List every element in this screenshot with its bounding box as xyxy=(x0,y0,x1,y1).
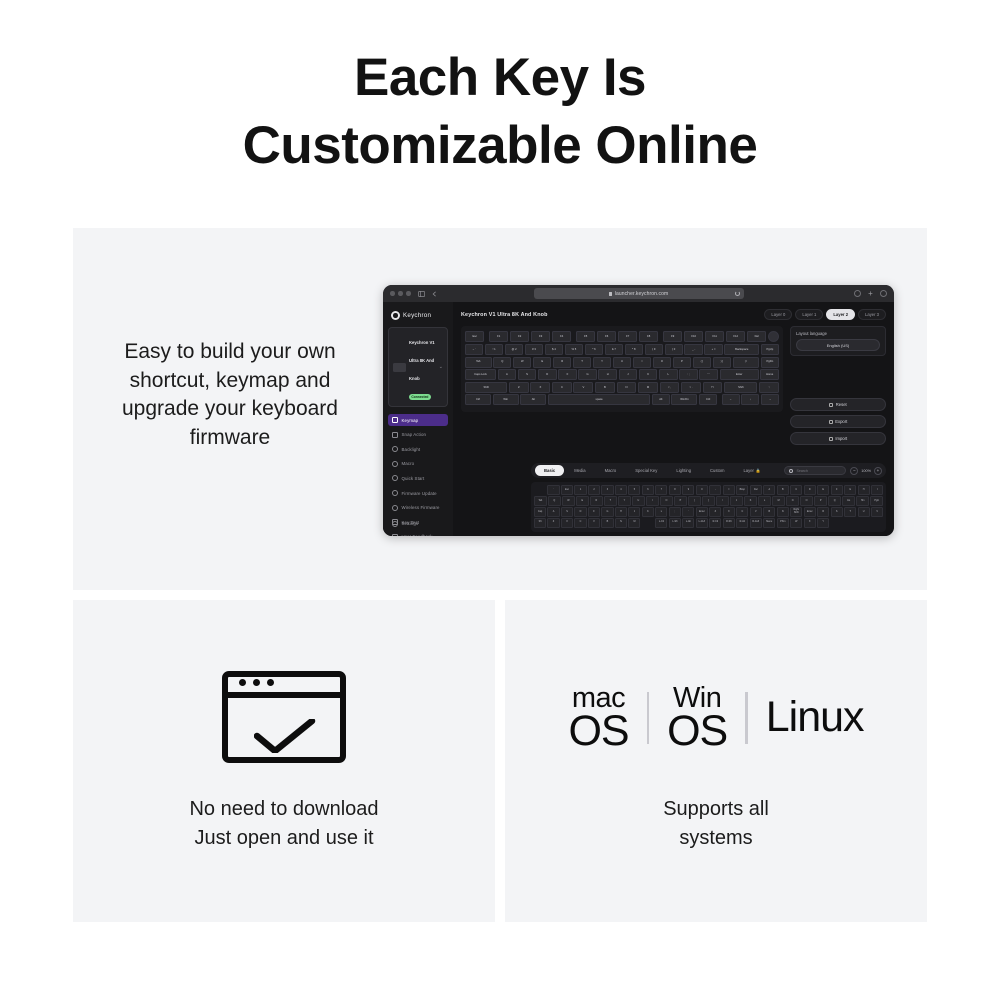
headline-line-1: Each Key Is xyxy=(354,48,646,107)
palette-key[interactable]: E xyxy=(817,485,829,495)
sidebar-item-label: Macro xyxy=(402,461,415,466)
palette-key[interactable]: N xyxy=(786,496,799,506)
key[interactable]: T xyxy=(573,357,591,368)
keychron-mark-icon xyxy=(391,311,400,320)
key[interactable]: Esc xyxy=(465,331,484,342)
palette-key[interactable]: ' xyxy=(682,507,694,517)
key[interactable]: N xyxy=(617,382,637,393)
key[interactable]: ? / xyxy=(703,382,723,393)
lock-icon xyxy=(609,292,612,296)
layer-tab-2[interactable]: Layer 2 xyxy=(826,309,855,320)
layout-language-select[interactable]: English (US) xyxy=(796,339,880,351)
brand-name: Keychron xyxy=(403,312,431,319)
palette-key[interactable]: G xyxy=(601,507,613,517)
divider xyxy=(745,692,748,744)
user-feedback-icon xyxy=(392,534,398,536)
key[interactable]: ( 9 xyxy=(645,344,663,355)
key-left-win[interactable]: Win xyxy=(493,394,519,405)
key[interactable]: W xyxy=(513,357,531,368)
palette-key[interactable]: PgU xyxy=(870,496,883,506)
search-icon xyxy=(789,469,793,473)
palette-key[interactable]: ` xyxy=(547,485,559,495)
palette-key[interactable]: Cap xyxy=(534,507,546,517)
key[interactable]: { [ xyxy=(693,357,711,368)
key[interactable]: L xyxy=(659,369,678,380)
palette-key[interactable]: D xyxy=(574,507,586,517)
tab-basic[interactable]: Basic xyxy=(535,465,564,476)
palette-key[interactable]: R-Sft xyxy=(723,518,735,528)
palette-key[interactable]: H xyxy=(858,485,870,495)
import-icon xyxy=(829,437,833,441)
palette-key[interactable] xyxy=(642,518,654,528)
palette-key[interactable]: C xyxy=(790,485,802,495)
browser-title-bar: launcher.keychron.com + xyxy=(383,285,894,302)
palette-key[interactable]: B xyxy=(601,518,613,528)
palette-key[interactable]: B xyxy=(763,507,775,517)
palette-key[interactable]: ; xyxy=(669,507,681,517)
key[interactable]: ~ ` xyxy=(465,344,483,355)
key[interactable]: H xyxy=(598,369,617,380)
palette-key[interactable]: W xyxy=(562,496,575,506)
key[interactable]: F2 xyxy=(510,331,529,342)
page-root: Each Key Is Customizable Online Easy to … xyxy=(0,0,1000,1000)
key-arrow-right[interactable]: → xyxy=(761,394,779,405)
key[interactable]: $ 4 xyxy=(545,344,563,355)
tab-lighting[interactable]: Lighting xyxy=(667,465,700,476)
palette-key[interactable]: T xyxy=(844,507,856,517)
palette-key[interactable]: M xyxy=(628,518,640,528)
palette-key[interactable]: 3 xyxy=(601,485,613,495)
browser-window-mockup: launcher.keychron.com + Keychron Ke xyxy=(383,285,894,536)
key[interactable]: > . xyxy=(681,382,701,393)
key[interactable]: F xyxy=(558,369,577,380)
sidebar-item-settings[interactable]: Settings xyxy=(388,518,448,530)
key-caps-lock[interactable]: Caps Lock xyxy=(465,369,496,380)
key-backslash[interactable]: | \ xyxy=(733,357,760,368)
tab-media[interactable]: Media xyxy=(565,465,594,476)
key-arrow-left[interactable]: ← xyxy=(722,394,740,405)
key-arrow-up[interactable]: ↑ xyxy=(759,382,779,393)
palette-key[interactable]: P xyxy=(814,496,827,506)
palette-key[interactable]: T xyxy=(604,496,617,506)
layer-tab-3[interactable]: Layer 3 xyxy=(858,309,886,320)
key[interactable]: B xyxy=(595,382,615,393)
palette-key[interactable]: L-GUI xyxy=(696,518,708,528)
palette-key[interactable]: F xyxy=(588,507,600,517)
palette-key[interactable]: \ xyxy=(716,496,729,506)
key-enter[interactable]: Enter xyxy=(720,369,759,380)
search-placeholder: Search xyxy=(796,469,807,473)
palette-key[interactable]: U xyxy=(632,496,645,506)
panel-actions: Reset Export Import xyxy=(790,398,886,445)
sidebar-item-label: Settings xyxy=(402,521,419,526)
palette-key[interactable]: 8 xyxy=(669,485,681,495)
key-space[interactable]: space xyxy=(548,394,650,405)
key[interactable]: % 5 xyxy=(565,344,583,355)
palette-key[interactable]: B xyxy=(777,485,789,495)
os-logos: mac OS Win OS Linux xyxy=(505,672,927,764)
caption-line-2: Just open and use it xyxy=(73,824,495,853)
dot-icon xyxy=(253,679,260,686)
app-sidebar: Keychron Keychron V1 Ultra 8K And Knob C… xyxy=(383,302,453,536)
key[interactable]: U xyxy=(613,357,631,368)
zoom-out-icon[interactable]: − xyxy=(850,467,858,475)
key[interactable]: F3 xyxy=(531,331,550,342)
palette-key[interactable]: Hm xyxy=(856,496,869,506)
palette-key[interactable]: F xyxy=(831,485,843,495)
palette-key[interactable]: Y xyxy=(618,496,631,506)
palette-key[interactable]: ] xyxy=(702,496,715,506)
palette-key[interactable]: R-GUI xyxy=(750,518,762,528)
palette-key[interactable]: Esc xyxy=(561,485,573,495)
key[interactable]: : ; xyxy=(679,369,698,380)
palette-key[interactable]: Sft xyxy=(534,518,546,528)
key[interactable]: F6 xyxy=(597,331,616,342)
palette-key[interactable]: K xyxy=(744,496,757,506)
headline-line-2: Customizable Online xyxy=(0,112,1000,180)
gear-icon xyxy=(392,521,398,527)
sidebar-item-snap-action[interactable]: Snap Action xyxy=(388,429,448,441)
app-main: Keychron V1 Ultra 8K And Knob Layer 0 La… xyxy=(453,302,894,536)
layout-language-box: Layout language English (US) xyxy=(790,326,886,356)
key[interactable]: E xyxy=(533,357,551,368)
palette-key[interactable]: Y xyxy=(817,518,829,528)
key[interactable]: P xyxy=(673,357,691,368)
lock-icon: 🔒 xyxy=(755,468,760,473)
key-pgdn[interactable]: PgDn xyxy=(761,357,779,368)
sidebar-item-label: Wireless Firmware xyxy=(402,505,440,510)
palette-key[interactable]: E xyxy=(576,496,589,506)
sidebar-toggle-icon[interactable] xyxy=(418,291,425,297)
key-left-shift[interactable]: Shift xyxy=(465,382,507,393)
export-button[interactable]: Export xyxy=(790,415,886,428)
key[interactable]: & 7 xyxy=(605,344,623,355)
reset-button[interactable]: Reset xyxy=(790,398,886,411)
import-button[interactable]: Import xyxy=(790,432,886,445)
palette-key[interactable]: A xyxy=(763,485,775,495)
tabs-overview-icon[interactable] xyxy=(880,290,887,297)
palette-key[interactable]: X xyxy=(723,507,735,517)
key[interactable]: F11 xyxy=(705,331,724,342)
sidebar-item-quick-start[interactable]: Quick Start xyxy=(388,472,448,484)
tab-macro[interactable]: Macro xyxy=(596,465,626,476)
palette-key[interactable] xyxy=(844,518,856,528)
launcher-description: Easy to build your own shortcut, keymap … xyxy=(95,338,365,452)
palette-key[interactable]: Q xyxy=(828,496,841,506)
palette-key[interactable]: G xyxy=(844,485,856,495)
key-fn[interactable]: Win/Fn xyxy=(671,394,697,405)
palette-row: ` Esc 1 2 3 4 5 6 7 8 9 0 - xyxy=(534,485,883,495)
key[interactable]: Del xyxy=(747,331,766,342)
palette-key[interactable]: L xyxy=(655,507,667,517)
key[interactable]: V xyxy=(573,382,593,393)
backlight-icon xyxy=(392,446,398,452)
palette-key[interactable]: R-Alt xyxy=(736,518,748,528)
palette-key[interactable]: [ xyxy=(688,496,701,506)
sidebar-item-user-feedback[interactable]: User Feedback xyxy=(388,531,448,537)
key[interactable]: S xyxy=(518,369,537,380)
keyboard-layout: Esc F1 F2 F3 F4 F5 F6 F7 F8 F9 F10 F11 xyxy=(461,326,783,412)
toolbar-tools: Search − 100% + xyxy=(784,466,882,475)
palette-key[interactable]: J xyxy=(730,496,743,506)
key[interactable]: < , xyxy=(660,382,680,393)
reset-icon xyxy=(829,403,833,407)
key[interactable]: _ - xyxy=(684,344,702,355)
winos-suffix: OS xyxy=(667,712,727,752)
wireless-firmware-icon xyxy=(392,505,398,511)
quick-start-icon xyxy=(392,475,398,481)
key-arrow-down[interactable]: ↓ xyxy=(741,394,759,405)
key-right-ctrl[interactable]: Ctrl xyxy=(699,394,717,405)
zoom-in-icon[interactable]: + xyxy=(874,467,882,475)
palette-key[interactable]: W xyxy=(790,518,802,528)
palette-key[interactable]: Z xyxy=(709,507,721,517)
palette-key[interactable]: 7 xyxy=(655,485,667,495)
keyboard-row: Shift Z X C V B N M < , > . ? / Shift xyxy=(465,382,779,393)
key[interactable]: D xyxy=(538,369,557,380)
key-left-alt[interactable]: Alt xyxy=(520,394,546,405)
palette-key[interactable]: 1 xyxy=(574,485,586,495)
palette-key[interactable]: X xyxy=(561,518,573,528)
key-home[interactable]: Home xyxy=(760,369,779,380)
device-selector[interactable]: Keychron V1 Ultra 8K And Knob Connected … xyxy=(388,327,448,407)
palette-key[interactable]: O xyxy=(800,496,813,506)
key[interactable]: Y xyxy=(593,357,611,368)
checkmark-icon xyxy=(254,719,316,753)
key-pgup[interactable]: PgUp xyxy=(761,344,779,355)
reset-label: Reset xyxy=(836,402,847,407)
palette-key[interactable]: K xyxy=(642,507,654,517)
palette-key[interactable]: S xyxy=(831,507,843,517)
key[interactable]: K xyxy=(639,369,658,380)
snap-action-icon xyxy=(392,432,398,438)
dot-icon xyxy=(239,679,246,686)
tab-custom[interactable]: Custom xyxy=(701,465,733,476)
import-label: Import xyxy=(835,436,847,441)
palette-key[interactable]: - xyxy=(709,485,721,495)
browser-actions: + xyxy=(854,290,887,297)
sidebar-item-label: Firmware Update xyxy=(402,491,437,496)
chevron-down-icon[interactable]: ⌄ xyxy=(439,364,443,370)
launcher-app-body: Keychron Keychron V1 Ultra 8K And Knob C… xyxy=(383,302,894,536)
key[interactable]: * 8 xyxy=(625,344,643,355)
palette-key[interactable]: 9 xyxy=(682,485,694,495)
palette-key[interactable]: L-Ctl xyxy=(655,518,667,528)
zoom-level: 100% xyxy=(861,469,871,473)
palette-key[interactable]: Menu xyxy=(763,518,775,528)
key[interactable]: F9 xyxy=(663,331,682,342)
palette-key[interactable]: 0 xyxy=(696,485,708,495)
key[interactable]: F10 xyxy=(684,331,703,342)
key[interactable]: Q xyxy=(493,357,511,368)
palette-key[interactable]: L-Alt xyxy=(682,518,694,528)
caption-line-2: systems xyxy=(505,824,927,853)
key[interactable]: ^ 6 xyxy=(585,344,603,355)
macro-icon xyxy=(392,461,398,467)
key[interactable]: F4 xyxy=(552,331,571,342)
key[interactable]: } ] xyxy=(713,357,731,368)
key-right-alt[interactable]: Alt xyxy=(652,394,670,405)
keycode-picker: Basic Media Macro Special Key Lighting C… xyxy=(531,463,886,532)
key[interactable]: @ 2 xyxy=(505,344,523,355)
palette-key[interactable]: J xyxy=(628,507,640,517)
browser-window-check-icon xyxy=(222,671,346,763)
palette-key[interactable]: P xyxy=(674,496,687,506)
palette-key[interactable]: Z xyxy=(547,518,559,528)
palette-key[interactable]: 2 xyxy=(588,485,600,495)
palette-key[interactable]: V xyxy=(588,518,600,528)
keyboard-row: Ctrl Win Alt space Alt Win/Fn Ctrl ← ↓ → xyxy=(465,394,779,405)
palette-key[interactable]: C xyxy=(736,507,748,517)
tab-layer-label: Layer xyxy=(743,468,753,473)
key[interactable]: # 3 xyxy=(525,344,543,355)
layer-tab-1[interactable]: Layer 1 xyxy=(795,309,823,320)
layer-tab-0[interactable]: Layer 0 xyxy=(764,309,792,320)
device-name: Keychron V1 Ultra 8K And Knob xyxy=(409,340,435,381)
key-tab[interactable]: Tab xyxy=(465,357,492,368)
palette-key[interactable]: Ins xyxy=(842,496,855,506)
keymap-icon xyxy=(392,417,398,423)
macos-logo: mac OS xyxy=(568,685,628,751)
sidebar-item-keymap[interactable]: Keymap xyxy=(388,414,448,426)
key-left-ctrl[interactable]: Ctrl xyxy=(465,394,491,405)
address-bar[interactable]: launcher.keychron.com xyxy=(534,288,744,299)
traffic-light-dots[interactable] xyxy=(390,291,411,296)
key-backspace[interactable]: Backspace xyxy=(724,344,759,355)
sidebar-item-macro[interactable]: Macro xyxy=(388,458,448,470)
sidebar-item-label: Snap Action xyxy=(402,432,427,437)
palette-key[interactable]: H xyxy=(615,507,627,517)
page-title: Each Key Is Customizable Online xyxy=(0,44,1000,180)
palette-row: Sft Z X C V B N M L-Ctl L-Sft L-Alt xyxy=(534,518,883,528)
palette-key[interactable]: R xyxy=(590,496,603,506)
palette-key[interactable]: O xyxy=(660,496,673,506)
share-icon[interactable] xyxy=(854,290,861,297)
palette-key[interactable]: R xyxy=(817,507,829,517)
key[interactable]: Z xyxy=(509,382,529,393)
palette-key[interactable]: L xyxy=(758,496,771,506)
palette-key[interactable] xyxy=(858,518,870,528)
chevron-left-icon[interactable] xyxy=(432,291,437,297)
palette-key[interactable]: Del xyxy=(750,485,762,495)
palette-key[interactable] xyxy=(831,518,843,528)
palette-key[interactable]: A xyxy=(547,507,559,517)
keychron-logo: Keychron xyxy=(391,311,448,320)
key[interactable]: A xyxy=(498,369,517,380)
palette-key[interactable]: = xyxy=(723,485,735,495)
tab-special-key[interactable]: Special Key xyxy=(626,465,666,476)
key[interactable]: " ' xyxy=(699,369,718,380)
sidebar-item-label: Keymap xyxy=(402,418,419,423)
key[interactable]: F5 xyxy=(576,331,595,342)
key[interactable]: M xyxy=(638,382,658,393)
sidebar-item-label: Backlight xyxy=(402,447,421,452)
palette-key[interactable]: L-Sft xyxy=(669,518,681,528)
export-label: Export xyxy=(835,419,847,424)
zoom-controls: − 100% + xyxy=(850,467,882,475)
key[interactable]: O xyxy=(653,357,671,368)
device-meta: Keychron V1 Ultra 8K And Knob Connected xyxy=(409,331,436,403)
firmware-update-icon xyxy=(392,490,398,496)
key[interactable]: + = xyxy=(704,344,722,355)
sidebar-item-wireless-firmware[interactable]: Wireless Firmware xyxy=(388,501,448,513)
keycode-toolbar: Basic Media Macro Special Key Lighting C… xyxy=(531,463,886,478)
palette-key[interactable]: D xyxy=(804,485,816,495)
palette-key[interactable]: C xyxy=(574,518,586,528)
key[interactable]: F12 xyxy=(726,331,745,342)
key[interactable]: F1 xyxy=(489,331,508,342)
caption-line-1: No need to download xyxy=(73,795,495,824)
key[interactable]: ! 1 xyxy=(485,344,503,355)
palette-key[interactable]: 6 xyxy=(642,485,654,495)
palette-key[interactable]: V xyxy=(750,507,762,517)
palette-key[interactable]: N xyxy=(615,518,627,528)
palette-key[interactable]: S xyxy=(561,507,573,517)
palette-key[interactable]: Enter xyxy=(804,507,816,517)
key[interactable]: ) 0 xyxy=(665,344,683,355)
export-icon xyxy=(829,420,833,424)
sidebar-item-firmware-update[interactable]: Firmware Update xyxy=(388,487,448,499)
keyboard-title: Keychron V1 Ultra 8K And Knob xyxy=(461,312,548,318)
palette-key[interactable] xyxy=(534,485,546,495)
palette-key[interactable]: Enter xyxy=(696,507,708,517)
key[interactable]: F7 xyxy=(618,331,637,342)
palette-key[interactable]: I xyxy=(646,496,659,506)
plus-icon[interactable]: + xyxy=(867,290,874,297)
key[interactable]: X xyxy=(530,382,550,393)
palette-key[interactable]: U xyxy=(858,507,870,517)
key-right-shift[interactable]: Shift xyxy=(724,382,757,393)
search-input[interactable]: Search xyxy=(784,466,846,475)
palette-row: Tab Q W E R T Y U I O P [ ] xyxy=(534,496,883,506)
palette-key[interactable]: Q xyxy=(548,496,561,506)
tab-layer[interactable]: Layer🔒 xyxy=(734,465,769,476)
os-support-caption: Supports all systems xyxy=(505,795,927,853)
key[interactable]: I xyxy=(633,357,651,368)
layout-language-label: Layout language xyxy=(796,331,880,336)
no-download-caption: No need to download Just open and use it xyxy=(73,795,495,853)
palette-key[interactable]: R-Ctl xyxy=(709,518,721,528)
palette-key[interactable] xyxy=(871,518,883,528)
knob-key[interactable] xyxy=(768,331,779,342)
sidebar-item-backlight[interactable]: Backlight xyxy=(388,443,448,455)
key[interactable]: R xyxy=(553,357,571,368)
palette-key[interactable]: X xyxy=(804,518,816,528)
linux-label: Linux xyxy=(766,698,864,738)
key[interactable]: F8 xyxy=(639,331,658,342)
palette-key[interactable]: Right Shift xyxy=(790,507,802,517)
key[interactable]: C xyxy=(552,382,572,393)
right-panel: Layout language English (US) Reset Expor… xyxy=(790,326,886,445)
keyboard-row: ~ ` ! 1 @ 2 # 3 $ 4 % 5 ^ 6 & 7 * 8 ( 9 … xyxy=(465,344,779,355)
dot-icon xyxy=(267,679,274,686)
key[interactable]: J xyxy=(619,369,638,380)
winos-logo: Win OS xyxy=(667,685,727,751)
palette-key[interactable]: 4 xyxy=(615,485,627,495)
linux-logo: Linux xyxy=(766,698,864,738)
palette-key[interactable]: V xyxy=(871,507,883,517)
palette-key[interactable]: I xyxy=(871,485,883,495)
palette-key[interactable]: M xyxy=(772,496,785,506)
key[interactable]: G xyxy=(578,369,597,380)
browser-titlebar-shape xyxy=(228,677,340,698)
palette-key[interactable]: 5 xyxy=(628,485,640,495)
palette-key[interactable]: N xyxy=(777,507,789,517)
reload-icon[interactable] xyxy=(735,291,740,296)
palette-key[interactable]: Bksp xyxy=(736,485,748,495)
palette-key[interactable]: Tab xyxy=(534,496,547,506)
palette-key[interactable]: PSrn xyxy=(777,518,789,528)
